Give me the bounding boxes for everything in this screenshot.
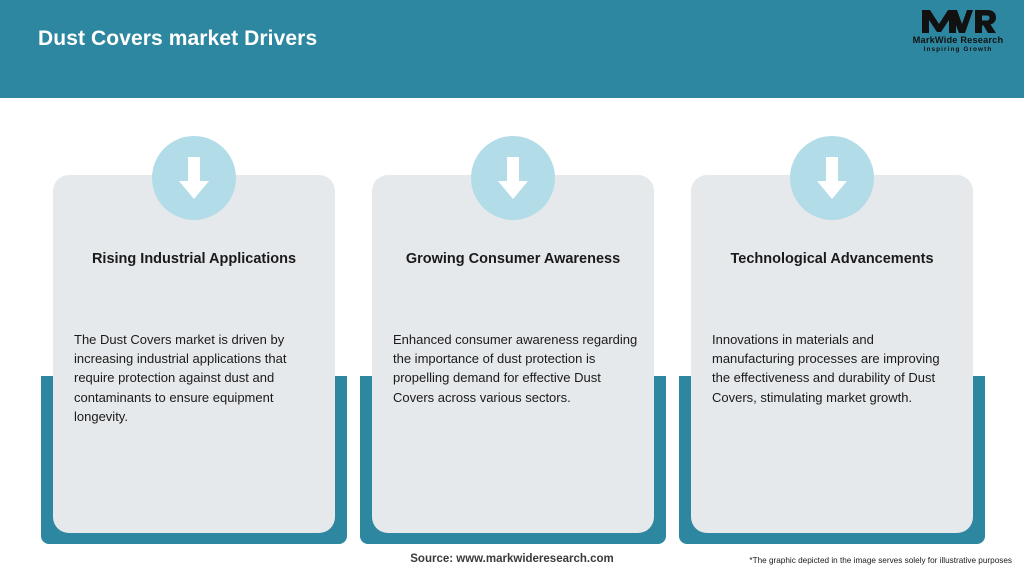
card-body-text: The Dust Covers market is driven by incr… [74, 330, 319, 426]
card-icon-badge [152, 136, 236, 220]
header-band: Dust Covers market Drivers MarkWide Rese… [0, 0, 1024, 98]
brand-logo: MarkWide Research Inspiring Growth [904, 8, 1012, 60]
card-icon-badge [471, 136, 555, 220]
driver-card-3: Technological Advancements Innovations i… [679, 136, 985, 546]
card-panel: Technological Advancements Innovations i… [691, 175, 973, 533]
card-title: Technological Advancements [705, 249, 959, 270]
card-title: Growing Consumer Awareness [386, 249, 640, 270]
card-panel: Growing Consumer Awareness Enhanced cons… [372, 175, 654, 533]
card-panel: Rising Industrial Applications The Dust … [53, 175, 335, 533]
card-title: Rising Industrial Applications [67, 249, 321, 270]
arrow-down-icon [177, 155, 211, 201]
card-icon-badge [790, 136, 874, 220]
arrow-down-icon [815, 155, 849, 201]
card-body-text: Enhanced consumer awareness regarding th… [393, 330, 638, 407]
mwr-logo-icon [920, 8, 996, 34]
disclaimer-label: *The graphic depicted in the image serve… [749, 556, 1012, 565]
card-body-text: Innovations in materials and manufacturi… [712, 330, 957, 407]
logo-company-name: MarkWide Research [904, 35, 1012, 45]
driver-card-2: Growing Consumer Awareness Enhanced cons… [360, 136, 666, 546]
page-title: Dust Covers market Drivers [38, 27, 317, 51]
drivers-card-row: Rising Industrial Applications The Dust … [0, 136, 1024, 546]
arrow-down-icon [496, 155, 530, 201]
logo-tagline: Inspiring Growth [904, 46, 1012, 53]
driver-card-1: Rising Industrial Applications The Dust … [41, 136, 347, 546]
